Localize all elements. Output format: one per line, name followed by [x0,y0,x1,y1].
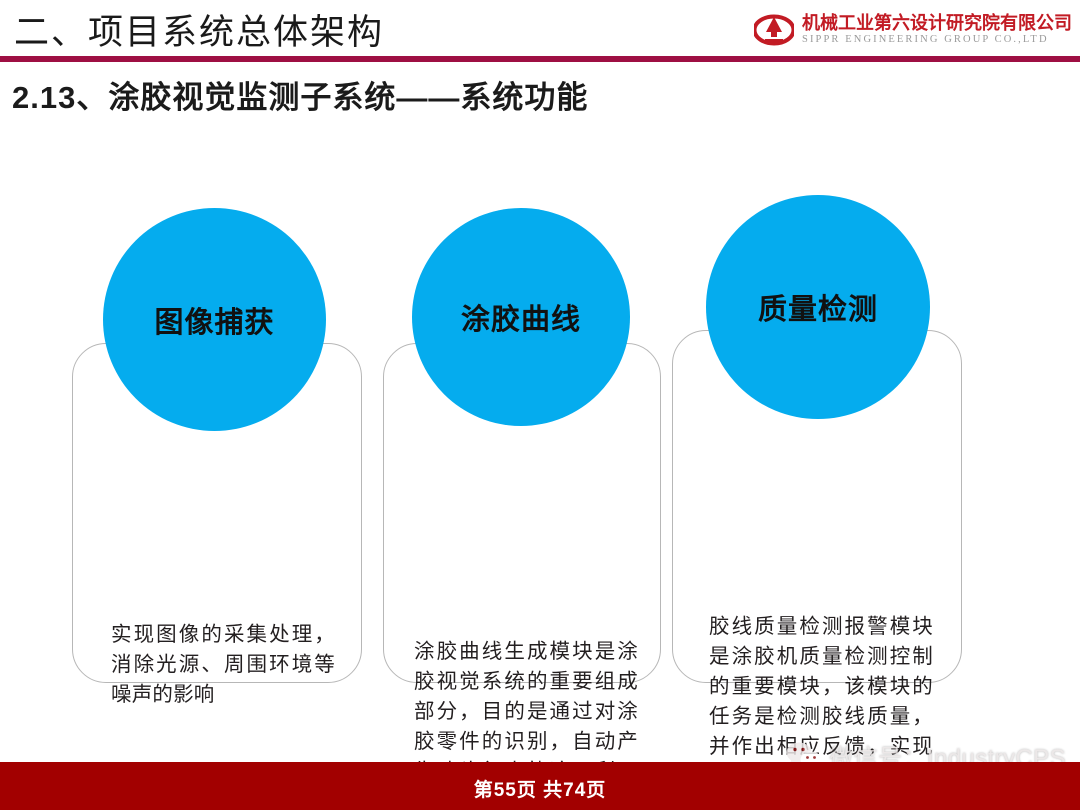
feature-bubble-image-capture[interactable]: 图像捕获 [103,208,326,431]
feature-bubble-label: 质量检测 [758,286,878,328]
company-logo: 机械工业第六设计研究院有限公司 SIPPR ENGINEERING GROUP … [754,8,1072,52]
sippr-logo-icon [754,10,794,50]
page-indicator: 第55页 共74页 [0,775,1080,802]
logo-company-en: SIPPR ENGINEERING GROUP CO.,LTD [802,35,1072,46]
slide-header: 二、项目系统总体架构 机械工业第六设计研究院有限公司 SIPPR ENGINEE… [0,0,1080,62]
feature-bubble-quality-inspection[interactable]: 质量检测 [706,195,930,419]
slide-canvas: 二、项目系统总体架构 机械工业第六设计研究院有限公司 SIPPR ENGINEE… [0,0,1080,810]
feature-bubble-label: 涂胶曲线 [461,296,581,338]
slide-footer: 第55页 共74页 [0,762,1080,810]
feature-diagram: 实现图像的采集处理，消除光源、周围环境等噪声的影响 图像捕获 涂胶曲线生成模块是… [0,150,1080,720]
feature-card-body: 实现图像的采集处理，消除光源、周围环境等噪声的影响 [111,621,335,711]
feature-bubble-label: 图像捕获 [154,299,274,341]
feature-bubble-glue-curve[interactable]: 涂胶曲线 [412,208,630,426]
section-title: 二、项目系统总体架构 [14,4,384,55]
logo-text-block: 机械工业第六设计研究院有限公司 SIPPR ENGINEERING GROUP … [802,14,1072,46]
logo-company-cn: 机械工业第六设计研究院有限公司 [802,14,1072,32]
page-title: 2.13、涂胶视觉监测子系统——系统功能 [12,72,588,117]
header-divider [0,56,1080,62]
